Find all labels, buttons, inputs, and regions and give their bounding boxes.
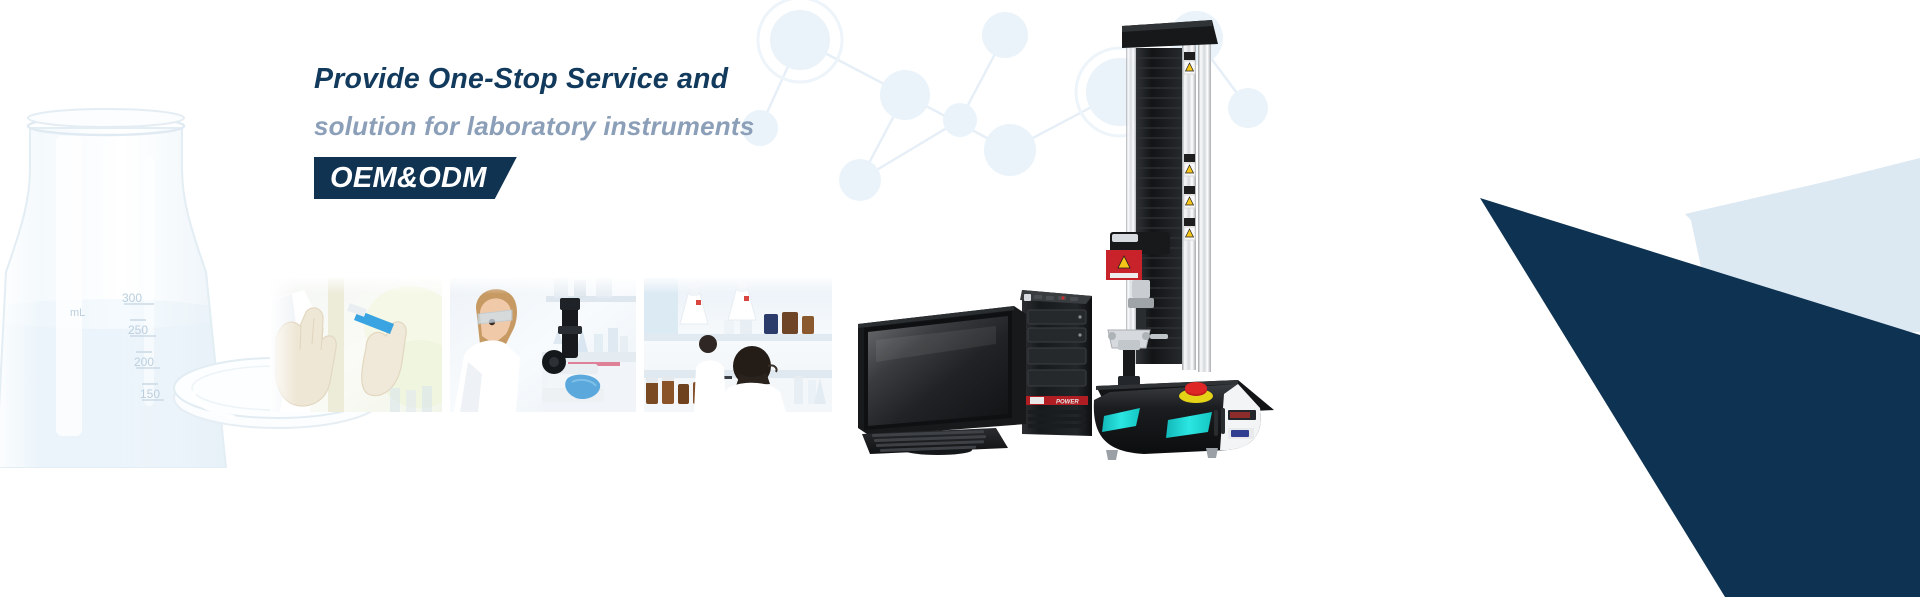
lab-photo-strip [270,278,832,412]
headline-secondary: solution for laboratory instruments [314,102,1014,150]
svg-text:300: 300 [122,291,142,305]
svg-text:150: 150 [140,387,160,401]
oem-odm-badge-label: OEM&ODM [330,157,487,199]
svg-text:250: 250 [128,323,148,337]
svg-text:mL: mL [70,307,85,319]
photo-fade-top [270,278,442,294]
photo-fade-top [644,278,832,294]
desktop-computer: POWER [856,284,1116,456]
headline-primary: Provide One-Stop Service and [314,56,1014,102]
computer-tower: POWER [1020,290,1092,436]
photo-pipetting-gloved-hands[interactable] [270,278,442,412]
headline-copy-block: Provide One-Stop Service and solution fo… [314,56,1014,199]
machine-base [1094,380,1274,460]
photo-fade-top [450,278,636,294]
photo-fade-left [270,278,296,412]
photo-microscope-researcher[interactable] [450,278,636,412]
oem-odm-badge[interactable]: OEM&ODM [314,157,517,199]
universal-tensile-testing-machine [1088,18,1308,460]
photo-lab-bench-technicians[interactable] [644,278,832,412]
promo-banner: 300 250 200 150 mL Provide One-Stop Serv… [0,0,1920,597]
svg-text:200: 200 [134,355,154,369]
svg-text:POWER: POWER [1056,400,1079,406]
badge-wrapper: OEM&ODM [314,157,1014,199]
